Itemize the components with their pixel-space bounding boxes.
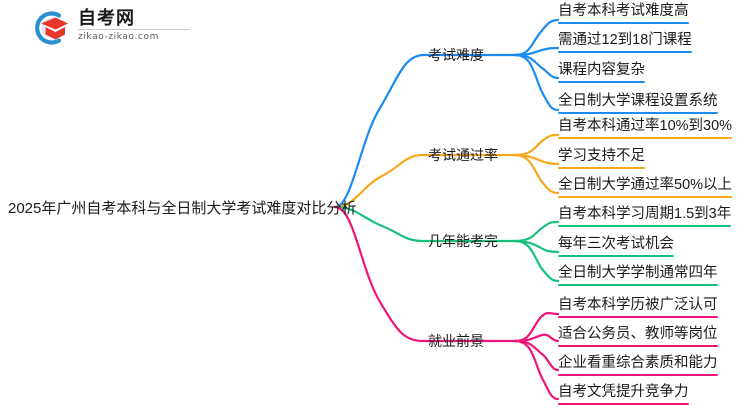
root-node-label: 2025年广州自考本科与全日制大学考试难度对比分析 — [8, 197, 356, 218]
leaf-node-1-4-label: 全日制大学课程设置系统 — [558, 92, 718, 111]
graduation-cap-arc-logo-icon — [28, 10, 68, 46]
branch-node-2-label: 考试通过率 — [428, 147, 498, 163]
leaf-node-2-2-label: 学习支持不足 — [558, 147, 645, 166]
leaf-node-4-1-label: 自考本科学历被广泛认可 — [558, 296, 718, 315]
leaf-node-3-3-label: 全日制大学学制通常四年 — [558, 264, 718, 283]
branch-node-1[interactable]: 考试难度 — [428, 45, 484, 65]
leaf-node-1-1-underline — [558, 22, 689, 24]
logo-name-cn: 自考网 — [78, 8, 208, 28]
leaf-node-3-3[interactable]: 全日制大学学制通常四年 — [558, 262, 718, 286]
logo-divider — [78, 29, 190, 30]
branch-node-1-label: 考试难度 — [428, 47, 484, 63]
logo-wordmark: 自考网 zikao-zikao.com — [78, 8, 208, 43]
leaf-node-2-3-underline — [558, 196, 732, 198]
leaf-node-4-3-underline — [558, 374, 718, 376]
branch-node-2[interactable]: 考试通过率 — [428, 145, 498, 165]
branch-node-4-label: 就业前景 — [428, 333, 484, 349]
leaf-node-1-3-label: 课程内容复杂 — [558, 61, 645, 80]
leaf-node-4-4[interactable]: 自考文凭提升竞争力 — [558, 381, 689, 405]
leaf-node-2-2[interactable]: 学习支持不足 — [558, 145, 645, 169]
leaf-node-4-2-underline — [558, 345, 718, 347]
leaf-node-1-3-underline — [558, 81, 645, 83]
leaf-node-3-1-label: 自考本科学习周期1.5到3年 — [558, 205, 731, 224]
leaf-node-3-3-underline — [558, 284, 718, 286]
leaf-node-1-4-underline — [558, 112, 718, 114]
leaf-node-2-3-label: 全日制大学通过率50%以上 — [558, 176, 732, 195]
leaf-node-1-2-label: 需通过12到18门课程 — [558, 31, 692, 50]
leaf-node-2-1-label: 自考本科通过率10%到30% — [558, 117, 732, 136]
leaf-node-4-1[interactable]: 自考本科学历被广泛认可 — [558, 294, 718, 318]
logo-url: zikao-zikao.com — [78, 32, 208, 43]
leaf-node-3-1[interactable]: 自考本科学习周期1.5到3年 — [558, 203, 731, 227]
leaf-node-3-2[interactable]: 每年三次考试机会 — [558, 233, 674, 257]
leaf-node-1-4[interactable]: 全日制大学课程设置系统 — [558, 90, 718, 114]
leaf-node-3-2-underline — [558, 255, 674, 257]
leaf-node-4-2[interactable]: 适合公务员、教师等岗位 — [558, 323, 718, 347]
leaf-node-4-3-label: 企业看重综合素质和能力 — [558, 354, 718, 373]
leaf-node-2-1-underline — [558, 137, 732, 139]
leaf-node-2-2-underline — [558, 167, 645, 169]
root-node[interactable]: 2025年广州自考本科与全日制大学考试难度对比分析 — [8, 195, 330, 219]
leaf-node-1-2[interactable]: 需通过12到18门课程 — [558, 29, 692, 53]
branch-node-3-label: 几年能考完 — [428, 233, 498, 249]
branch-node-4[interactable]: 就业前景 — [428, 331, 484, 351]
site-logo[interactable]: 自考网 zikao-zikao.com — [28, 6, 208, 50]
leaf-node-1-2-underline — [558, 51, 692, 53]
leaf-node-4-4-label: 自考文凭提升竞争力 — [558, 383, 689, 402]
leaf-node-4-1-underline — [558, 316, 718, 318]
leaf-node-4-3[interactable]: 企业看重综合素质和能力 — [558, 352, 718, 376]
branch-node-3[interactable]: 几年能考完 — [428, 231, 498, 251]
leaf-node-1-1[interactable]: 自考本科考试难度高 — [558, 0, 689, 24]
leaf-node-2-3[interactable]: 全日制大学通过率50%以上 — [558, 174, 732, 198]
leaf-node-2-1[interactable]: 自考本科通过率10%到30% — [558, 115, 732, 139]
leaf-node-1-3[interactable]: 课程内容复杂 — [558, 59, 645, 83]
leaf-node-3-1-underline — [558, 225, 731, 227]
mindmap-canvas: 自考网 zikao-zikao.com — [0, 0, 750, 410]
leaf-node-1-1-label: 自考本科考试难度高 — [558, 2, 689, 21]
leaf-node-4-2-label: 适合公务员、教师等岗位 — [558, 325, 718, 344]
leaf-node-3-2-label: 每年三次考试机会 — [558, 235, 674, 254]
leaf-node-4-4-underline — [558, 403, 689, 405]
